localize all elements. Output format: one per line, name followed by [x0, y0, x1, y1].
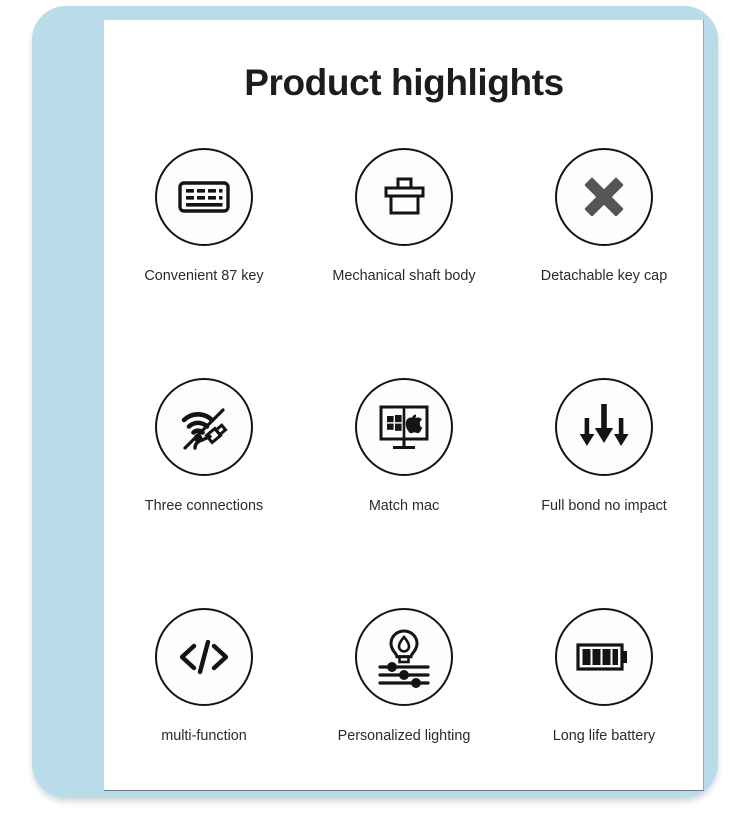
key-switch-icon [355, 148, 453, 246]
highlight-item-match-mac[interactable]: Match mac [304, 374, 504, 604]
three-down-arrows-icon [555, 378, 653, 476]
highlight-item-key-switch[interactable]: Mechanical shaft body [304, 144, 504, 374]
highlight-label: Three connections [145, 498, 263, 514]
highlight-label: multi-function [161, 728, 247, 744]
keyboard-icon [155, 148, 253, 246]
highlight-item-battery[interactable]: Long life battery [504, 604, 704, 834]
highlight-item-key-cap[interactable]: Detachable key cap [504, 144, 704, 374]
highlight-item-keyboard[interactable]: Convenient 87 key [104, 144, 304, 374]
wireless-usb-icon [155, 378, 253, 476]
highlight-label: Personalized lighting [338, 728, 471, 744]
highlight-label: Convenient 87 key [144, 268, 263, 284]
monitor-windows-apple-icon [355, 378, 453, 476]
page-title: Product highlights [104, 62, 704, 104]
cross-stem-icon [555, 148, 653, 246]
highlight-item-multi-function[interactable]: multi-function [104, 604, 304, 834]
highlight-label: Detachable key cap [541, 268, 667, 284]
content-panel: Product highlights [104, 20, 704, 791]
code-brackets-icon [155, 608, 253, 706]
highlight-item-lighting[interactable]: Personalized lighting [304, 604, 504, 834]
highlight-item-connections[interactable]: Three connections [104, 374, 304, 604]
device-frame: Product highlights [32, 6, 718, 798]
highlight-label: Mechanical shaft body [332, 268, 475, 284]
highlight-label: Full bond no impact [541, 498, 667, 514]
battery-full-icon [555, 608, 653, 706]
highlight-item-full-bond[interactable]: Full bond no impact [504, 374, 704, 604]
highlight-label: Long life battery [553, 728, 655, 744]
highlight-label: Match mac [369, 498, 439, 514]
bulb-sliders-icon [355, 608, 453, 706]
highlight-grid: Convenient 87 key Mechanical shaft body [104, 144, 704, 834]
